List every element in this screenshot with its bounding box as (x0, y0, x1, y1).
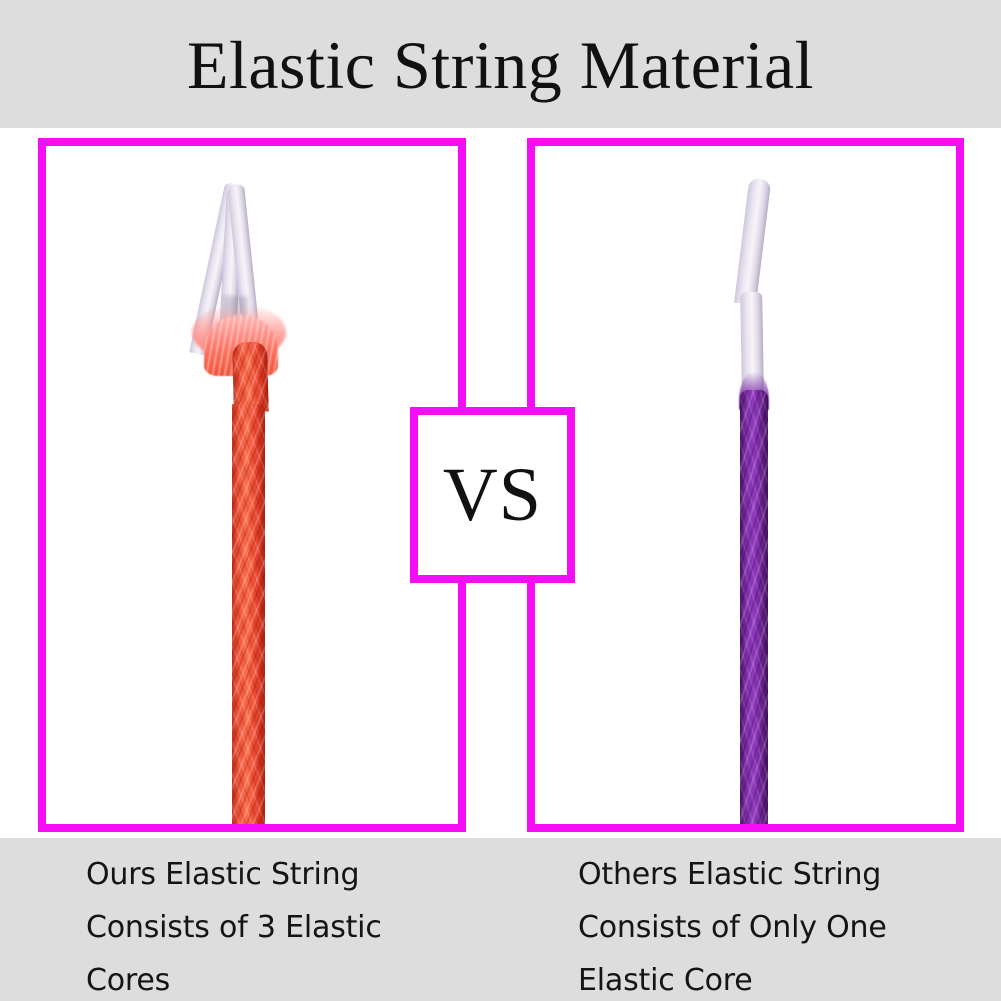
comparison-infographic: Elastic String Material (0, 0, 1001, 1001)
caption-ours-line-3: Cores (86, 954, 486, 1001)
ours-elastic-string (232, 342, 269, 413)
ours-cord-illustration (46, 146, 458, 824)
panel-ours (38, 138, 466, 832)
others-elastic-string (740, 390, 768, 830)
others-cord-illustration (535, 146, 956, 824)
caption-ours: Ours Elastic String Consists of 3 Elasti… (86, 838, 486, 1001)
panel-others (527, 138, 964, 832)
ours-elastic-string-body (232, 404, 265, 830)
page-title: Elastic String Material (0, 26, 1001, 104)
elastic-core-single (734, 178, 771, 306)
caption-others: Others Elastic String Consists of Only O… (578, 838, 988, 1001)
caption-ours-line-1: Ours Elastic String (86, 848, 486, 901)
caption-others-line-2: Consists of Only One (578, 901, 988, 954)
caption-others-line-3: Elastic Core (578, 954, 988, 1001)
caption-ours-line-2: Consists of 3 Elastic (86, 901, 486, 954)
vs-label: VS (443, 457, 542, 533)
caption-others-line-1: Others Elastic String (578, 848, 988, 901)
vs-badge: VS (410, 407, 575, 583)
